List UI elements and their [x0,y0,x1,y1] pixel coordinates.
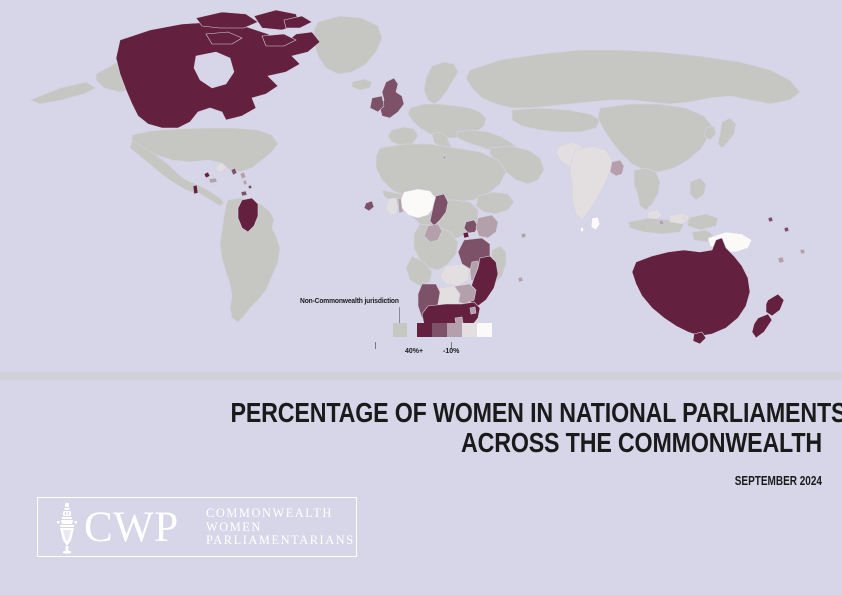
legend-swatch-30-40 [432,323,447,337]
cwp-logo: CWP COMMONWEALTH WOMEN PARLIAMENTARIANS [37,497,357,557]
country-belize [193,185,198,194]
country-brunei [684,215,689,220]
country-bangladesh [610,160,624,176]
country-jamaica [209,178,217,183]
publication-date: SEPTEMBER 2024 [262,474,822,488]
logo-word-parliamentarians: PARLIAMENTARIANS [206,534,355,548]
legend-swatch-under-10 [477,323,492,337]
logo-monogram: CWP [84,503,179,553]
page-title-line-2: ACROSS THE COMMONWEALTH [231,428,823,458]
title-block: PERCENTAGE OF WOMEN IN NATIONAL PARLIAME… [122,398,822,488]
legend-leader-line [399,307,400,323]
country-mauritius [518,277,523,282]
poster-canvas: .nm{fill:#c6c6c2;stroke:#d4d2e0;stroke-w… [0,0,842,595]
legend-swatch-20-30 [447,323,462,337]
legend-label-low: -10% [443,346,459,355]
country-singapore [659,220,664,225]
mace-icon [54,502,80,554]
legend-non-commonwealth-label: Non-Commonwealth jurisdiction [300,296,399,305]
country-rwanda [463,232,469,238]
country-fiji [778,257,784,263]
legend-tick-high [375,342,376,349]
legend-swatch-40-plus [417,323,432,337]
logo-word-commonwealth: COMMONWEALTH [206,507,355,521]
logo-word-women: WOMEN [206,521,355,535]
country-samoa [800,249,805,254]
map-legend: Non-Commonwealth jurisdiction 40%+ -10% [300,296,490,362]
logo-wordmark: COMMONWEALTH WOMEN PARLIAMENTARIANS [206,507,355,548]
legend-swatch-10-20 [462,323,477,337]
legend-label-high: 40%+ [405,346,423,355]
page-title-line-1: PERCENTAGE OF WOMEN IN NATIONAL PARLIAME… [231,398,823,428]
country-maldives [580,227,584,232]
country-seychelles [521,233,526,238]
legend-swatch-non-commonwealth [393,323,407,337]
country-trinidad [241,191,247,196]
country-cyprus [481,150,485,153]
country-malta [443,156,446,159]
country-barbados [248,185,252,189]
country-nauru-kiribati [768,217,773,222]
